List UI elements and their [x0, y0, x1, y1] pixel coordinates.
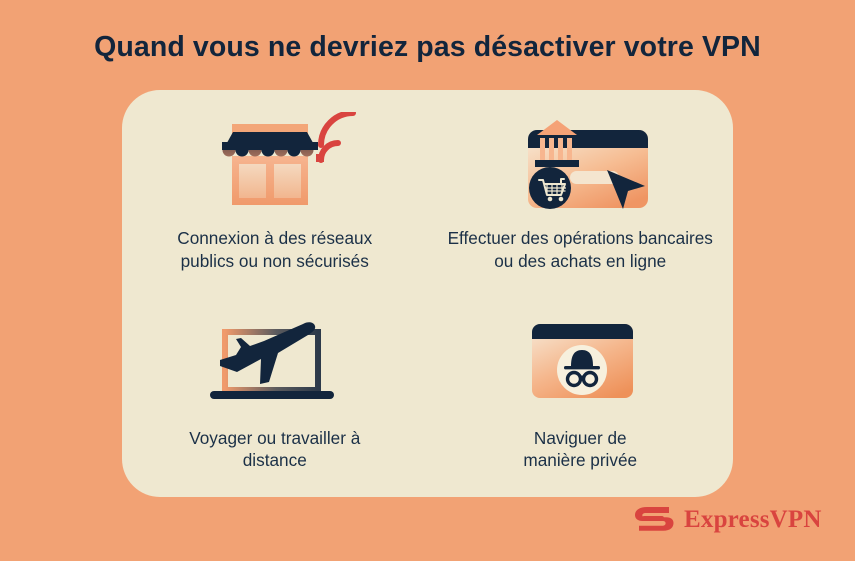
item-label-3: Voyager ou travailler à distance	[189, 427, 360, 473]
expressvpn-e-mark-icon	[633, 504, 675, 534]
laptop-airplane-icon	[190, 308, 360, 413]
content-card: Connexion à des réseaux publics ou non s…	[122, 90, 733, 497]
item-label-2: Effectuer des opérations bancaires ou de…	[448, 227, 713, 273]
storefront-wifi-icon	[190, 112, 360, 217]
item-label-1: Connexion à des réseaux publics ou non s…	[177, 227, 372, 273]
item-cell-3: Voyager ou travailler à distance	[122, 294, 428, 498]
item-cell-2: Effectuer des opérations bancaires ou de…	[428, 90, 734, 294]
credit-card-bank-cart-icon	[495, 112, 665, 217]
infographic-canvas: Quand vous ne devriez pas désactiver vot…	[0, 0, 855, 561]
expressvpn-wordmark: ExpressVPN	[684, 507, 822, 532]
browser-incognito-icon	[495, 308, 665, 413]
item-cell-4: Naviguer de manière privée	[428, 294, 734, 498]
item-label-4: Naviguer de manière privée	[523, 427, 637, 473]
expressvpn-logo: ExpressVPN	[633, 504, 822, 534]
page-title: Quand vous ne devriez pas désactiver vot…	[0, 30, 855, 64]
item-cell-1: Connexion à des réseaux publics ou non s…	[122, 90, 428, 294]
items-grid: Connexion à des réseaux publics ou non s…	[122, 90, 733, 497]
